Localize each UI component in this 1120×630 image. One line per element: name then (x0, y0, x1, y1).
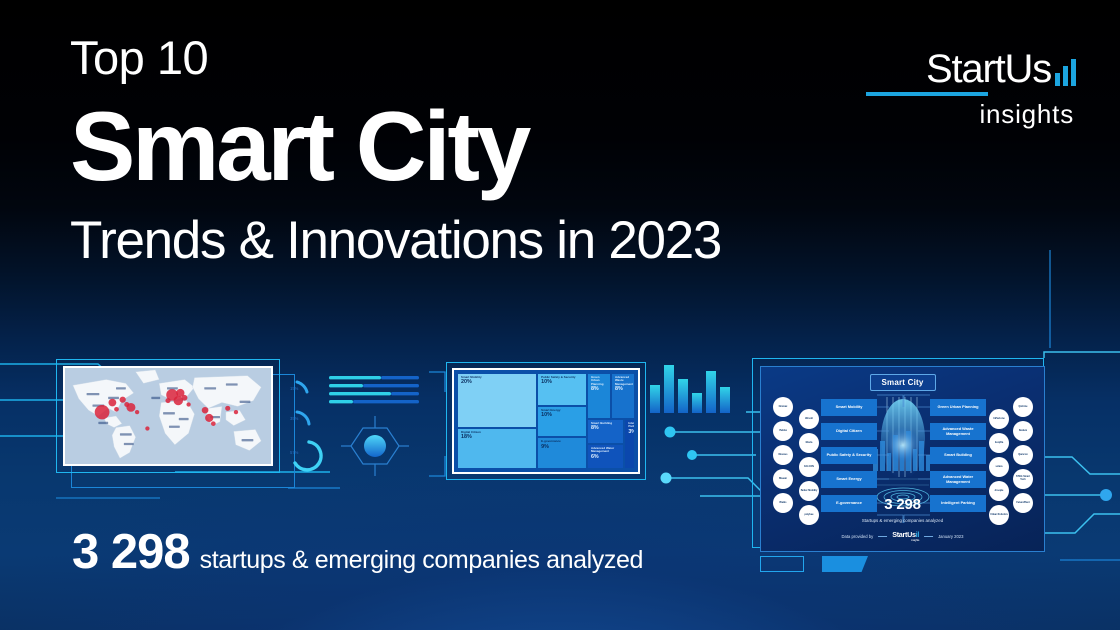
decor-bar (720, 387, 730, 413)
company-badge-left-inner[interactable]: Better Mobility (799, 481, 819, 501)
badge-label: FALCON (803, 466, 815, 469)
map-marker (234, 410, 238, 414)
decor-bar (650, 385, 660, 413)
badge-label: Moveus (778, 454, 789, 457)
map-marker (135, 410, 139, 414)
footer-separator-left (878, 536, 887, 537)
treemap-cell-value: 6% (591, 455, 620, 461)
map-marker (202, 407, 209, 414)
treemap-cell-value: 18% (461, 435, 533, 441)
page-subtitle: Trends & Innovations in 2023 (70, 213, 721, 269)
badge-label: STEG Smart Tech (1013, 476, 1033, 481)
dashboard-label-left[interactable]: Smart Energy (821, 471, 877, 488)
logo-wordmark: StartUs (926, 50, 1051, 88)
treemap-cell-value: 9% (541, 445, 583, 451)
map-marker (124, 402, 129, 407)
footer-logo: StartUsil insights (892, 530, 919, 542)
company-badge-left-outer[interactable]: iTubGo (773, 421, 793, 441)
dashboard-label-right[interactable]: Advanced Waste Management (930, 423, 986, 440)
treemap-cell[interactable]: Smart Energy10% (537, 406, 587, 438)
company-badge-right-inner[interactable]: solara (989, 457, 1009, 477)
footer-separator-right (924, 536, 933, 537)
bar-chart-decoration (650, 358, 730, 413)
badge-label: droople (994, 490, 1005, 493)
treemap-cell[interactable]: Smart Building8% (587, 419, 624, 444)
company-badge-left-outer[interactable]: Moveus (773, 445, 793, 465)
treemap-cell[interactable]: Advanced Water Management6% (587, 444, 624, 469)
map-marker (114, 407, 119, 412)
badge-label: Ommax (778, 406, 789, 409)
badge-label: Movia (805, 442, 814, 445)
headline-block: Top 10 Smart City Trends & Innovations i… (70, 34, 721, 269)
dashboard-label-right[interactable]: Green Urban Planning (930, 399, 986, 416)
company-badge-right-inner[interactable]: droople (989, 481, 1009, 501)
dashboard-title: Smart City (869, 374, 935, 391)
map-marker (108, 399, 116, 407)
dashboard-label-left[interactable]: Smart Mobility (821, 399, 877, 416)
big-stat-block: 3 298 startups & emerging companies anal… (72, 524, 643, 580)
company-badge-left-inner[interactable]: Movia (799, 433, 819, 453)
badge-label: Urban Robotics (989, 514, 1009, 517)
treemap-cell-value: 20% (461, 380, 533, 386)
svg-text:57%: 57% (290, 450, 299, 455)
map-marker (165, 398, 170, 403)
world-map-panel[interactable] (63, 366, 273, 466)
company-badge-right-inner[interactable]: borqDa (989, 433, 1009, 453)
decor-bar (664, 365, 674, 413)
badge-label: Blueair (778, 478, 788, 481)
treemap-cell-label: Advanced Water Management (591, 447, 620, 454)
dashboard-label-right[interactable]: Intelligent Parking (930, 495, 986, 512)
logo-subtext: insights (866, 99, 1074, 130)
company-badge-left-outer[interactable]: Ommax (773, 397, 793, 417)
treemap-cell[interactable]: Green Urban Planning8% (587, 373, 611, 419)
middle-decoration: 15% 35% 57% (283, 368, 453, 483)
treemap-cell[interactable]: Public Safety & Security10% (537, 373, 587, 406)
company-badge-left-outer[interactable]: Blueair (773, 469, 793, 489)
badge-label: Nodum (1018, 430, 1028, 433)
kicker-text: Top 10 (70, 34, 721, 81)
dashboard-label-left[interactable]: E-governance (821, 495, 877, 512)
company-badge-left-inner[interactable]: polybee (799, 505, 819, 525)
dashboard-footer: Data provided by StartUsil insights Janu… (842, 530, 964, 542)
treemap-grid: Smart Mobility20%Digital Citizen18%Publi… (457, 373, 635, 469)
treemap-cell[interactable]: Smart Mobility20% (457, 373, 537, 428)
badge-label: Better Mobility (800, 490, 819, 493)
logo-wordmark-row: StartUs (866, 50, 1076, 88)
treemap-cell-value: 8% (591, 387, 607, 393)
company-badge-right-outer[interactable]: STEG Smart Tech (1013, 469, 1033, 489)
badge-label: polybee (803, 514, 814, 517)
treemap-cell[interactable]: Advanced Waste Management8% (611, 373, 635, 419)
map-marker (205, 414, 213, 422)
svg-text:15%: 15% (290, 386, 299, 391)
map-marker (225, 406, 230, 411)
map-marker (95, 405, 110, 419)
treemap-cell-value: 3% (628, 430, 631, 436)
map-marker (120, 397, 126, 403)
company-badge-right-outer[interactable]: Qamcon (1013, 445, 1033, 465)
company-badge-left-inner[interactable]: Wevolt (799, 409, 819, 429)
brand-logo: StartUs insights (866, 50, 1076, 130)
treemap-cell-label: Intelligent Parking (628, 422, 631, 429)
dashboard-label-right[interactable]: Smart Building (930, 447, 986, 464)
badge-label: FuturePlant (1015, 502, 1030, 505)
company-badge-right-inner[interactable]: Urban Robotics (989, 505, 1009, 525)
treemap-cell-value: 10% (541, 413, 583, 419)
dashboard-label-right[interactable]: Advanced Water Management (930, 471, 986, 488)
badge-label: Qamcon (1017, 454, 1029, 457)
svg-text:35%: 35% (290, 416, 299, 421)
treemap-cell[interactable]: E-governance9% (537, 437, 587, 469)
treemap-cell-label: Green Urban Planning (591, 376, 607, 386)
treemap-cell[interactable]: Intelligent Parking3% (624, 419, 635, 469)
badge-label: Blekis (778, 502, 787, 505)
dashboard-stat-text: Startups & emerging companies analyzed (862, 518, 943, 523)
badge-label: iTubGo (778, 430, 788, 433)
company-badge-left-outer[interactable]: Blekis (773, 493, 793, 513)
badge-label: Wevolt (804, 418, 814, 421)
big-stat-text: startups & emerging companies analyzed (200, 546, 643, 575)
bar-chart-icon (1055, 60, 1076, 88)
badge-label: solara (994, 466, 1003, 469)
accent-outline-box (760, 556, 804, 572)
treemap-cell-label: Advanced Waste Management (615, 376, 631, 386)
treemap-cell-value: 8% (591, 426, 620, 432)
poster-canvas: Top 10 Smart City Trends & Innovations i… (0, 0, 1120, 630)
footer-date: January 2023 (938, 534, 963, 539)
treemap-cell-value: 8% (615, 387, 631, 393)
badge-label: InPark.me (992, 418, 1005, 421)
smart-city-dashboard[interactable]: Smart City Smart MobilityDigital Citizen… (760, 366, 1045, 552)
map-marker (211, 421, 216, 426)
treemap-panel[interactable]: Smart Mobility20%Digital Citizen18%Publi… (452, 368, 640, 474)
accent-parallelogram (822, 556, 868, 572)
logo-underline (866, 92, 988, 96)
map-marker (145, 426, 149, 430)
decor-bar (706, 371, 716, 413)
badge-label: borqDa (994, 442, 1004, 445)
map-marker (186, 402, 190, 406)
company-badge-right-outer[interactable]: Nodum (1013, 421, 1033, 441)
company-badge-left-inner[interactable]: FALCON (799, 457, 819, 477)
map-marker (182, 395, 188, 401)
treemap-cell[interactable]: Digital Citizen18% (457, 428, 537, 469)
footer-prefix: Data provided by (842, 534, 874, 539)
company-badge-right-outer[interactable]: Qvitrine (1013, 397, 1033, 417)
dashboard-label-left[interactable]: Digital Citizen (821, 423, 877, 440)
big-stat-number: 3 298 (72, 524, 190, 580)
dashboard-label-left[interactable]: Public Safety & Security (821, 447, 877, 464)
decor-bar (678, 379, 688, 413)
decor-bar (692, 393, 702, 413)
treemap-cell-value: 10% (541, 380, 583, 386)
company-badge-right-inner[interactable]: InPark.me (989, 409, 1009, 429)
page-title: Smart City (70, 97, 721, 197)
world-map-graphic (65, 368, 271, 464)
dashboard-stat-number: 3 298 (884, 496, 921, 513)
badge-label: Qvitrine (1017, 406, 1028, 409)
company-badge-right-outer[interactable]: FuturePlant (1013, 493, 1033, 513)
